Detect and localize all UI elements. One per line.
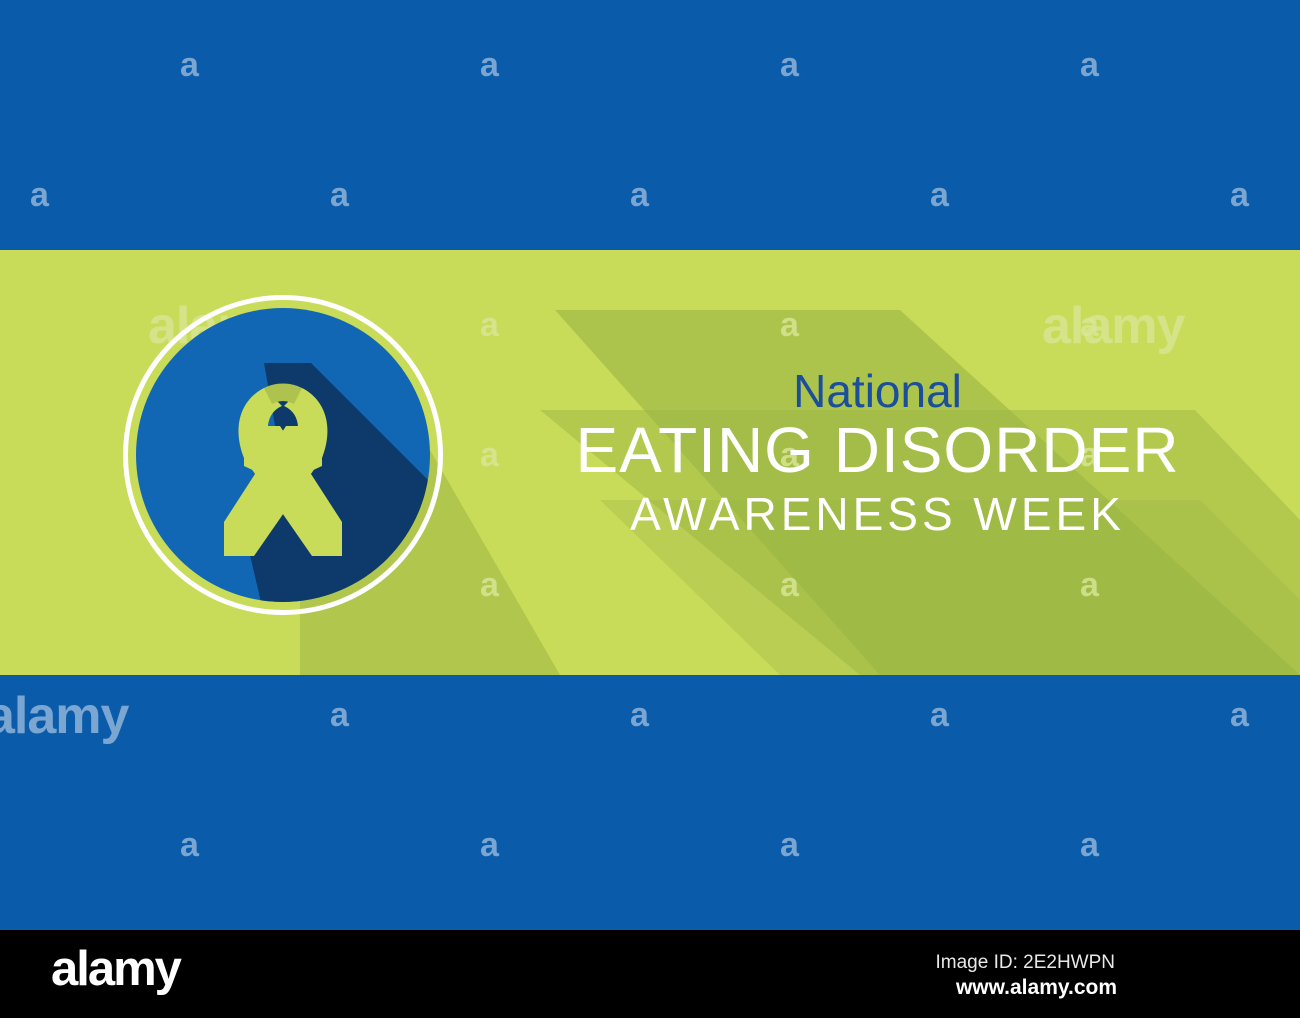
poster-canvas: aaaaaaaaa aaaaaaaaa alamyalamy aaaaaaaa	[0, 0, 1300, 1018]
headline-block: National EATING DISORDER AWARENESS WEEK	[565, 368, 1190, 540]
alamy-logo-text: alamy	[51, 945, 180, 994]
image-id-label: Image ID: 2E2HWPN	[936, 953, 1116, 972]
headline-title-line-2: AWARENESS WEEK	[565, 489, 1190, 540]
headline-title-line-1: EATING DISORDER	[565, 418, 1190, 483]
headline-eyebrow: National	[565, 368, 1190, 414]
awareness-ribbon-badge	[123, 295, 443, 615]
stock-credit-bar	[0, 930, 1300, 1018]
badge-ring-outline	[123, 295, 443, 615]
alamy-url-label: www.alamy.com	[956, 977, 1117, 998]
